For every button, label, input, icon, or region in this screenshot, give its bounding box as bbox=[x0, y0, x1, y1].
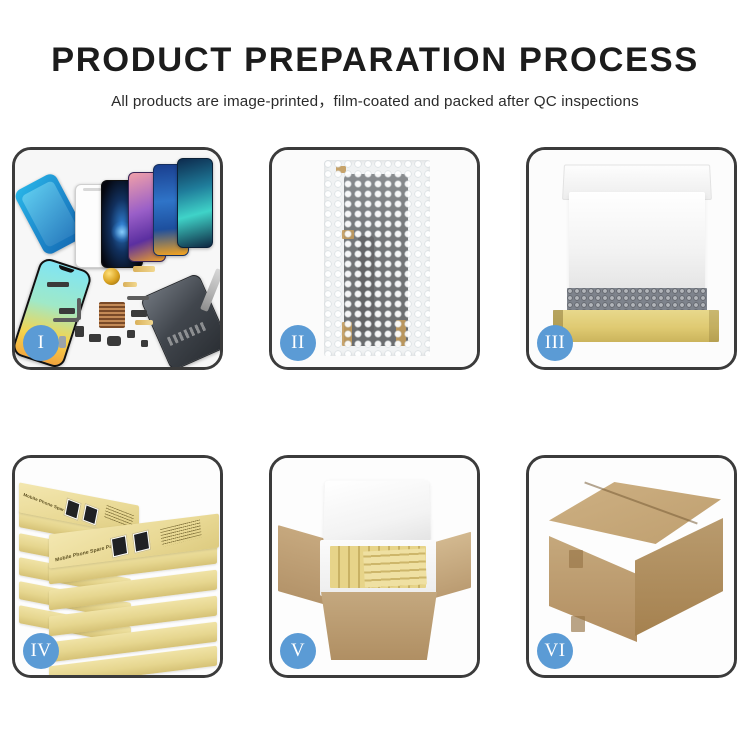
steps-grid: I II III bbox=[12, 147, 738, 678]
box-thumbnail-3 bbox=[110, 534, 129, 559]
box-spec-lines-2 bbox=[160, 520, 202, 547]
foam-lid-image bbox=[323, 481, 431, 543]
step-badge-1: I bbox=[23, 325, 59, 361]
step-panel-3: III bbox=[526, 147, 737, 370]
step-panel-6: VI bbox=[526, 455, 737, 678]
bubble-texture bbox=[324, 160, 430, 356]
logic-board-component-image bbox=[99, 302, 125, 328]
header: PRODUCT PREPARATION PROCESS All products… bbox=[0, 0, 750, 111]
page-title: PRODUCT PREPARATION PROCESS bbox=[0, 0, 750, 78]
phone-teal-image bbox=[177, 158, 213, 248]
box-thumbnail-4 bbox=[132, 529, 151, 554]
step-panel-2: II bbox=[269, 147, 480, 370]
flex-cable-2 bbox=[77, 298, 81, 320]
component-chip-2 bbox=[59, 308, 75, 314]
component-chip-1 bbox=[47, 282, 69, 287]
component-chip-3 bbox=[75, 326, 84, 337]
carton-tape-2 bbox=[571, 616, 585, 632]
page-subtitle: All products are image-printed，film-coat… bbox=[0, 78, 750, 111]
step-badge-4: IV bbox=[23, 633, 59, 669]
foam-sheet-image bbox=[569, 192, 705, 292]
gold-connector-3 bbox=[135, 320, 153, 325]
component-chip-9 bbox=[141, 340, 148, 347]
component-chip-8 bbox=[59, 336, 66, 348]
step-panel-5: V bbox=[269, 455, 480, 678]
component-chip-6 bbox=[127, 330, 135, 338]
carton-tape-1 bbox=[569, 550, 583, 568]
product-preparation-infographic: PRODUCT PREPARATION PROCESS All products… bbox=[0, 0, 750, 750]
flex-cable-3 bbox=[127, 296, 149, 300]
step-badge-5: V bbox=[280, 633, 316, 669]
box-label-text-2: Mobile Phone Spare Parts bbox=[55, 542, 119, 563]
carton-front-panel bbox=[316, 592, 442, 660]
speaker-component-image bbox=[103, 268, 120, 285]
flex-cable-1 bbox=[53, 318, 79, 322]
bubble-wrap-bag-image bbox=[324, 160, 430, 356]
yellow-mailer-box-image bbox=[553, 310, 719, 342]
carton-left-face bbox=[549, 536, 637, 642]
packed-boxes-image-2 bbox=[363, 548, 427, 587]
box-thumbnail-2 bbox=[81, 503, 99, 527]
gold-connector-2 bbox=[123, 282, 137, 287]
gold-connector-1 bbox=[133, 266, 155, 272]
component-chip-4 bbox=[89, 334, 101, 342]
step-badge-2: II bbox=[280, 325, 316, 361]
step-panel-4: Mobile Phone Spare Parts Mobile Phone Sp… bbox=[12, 455, 223, 678]
carton-flap-left bbox=[278, 525, 326, 605]
step-badge-3: III bbox=[537, 325, 573, 361]
step-panel-1: I bbox=[12, 147, 223, 370]
step-badge-6: VI bbox=[537, 633, 573, 669]
component-chip-5 bbox=[107, 336, 121, 346]
component-chip-7 bbox=[131, 310, 147, 317]
